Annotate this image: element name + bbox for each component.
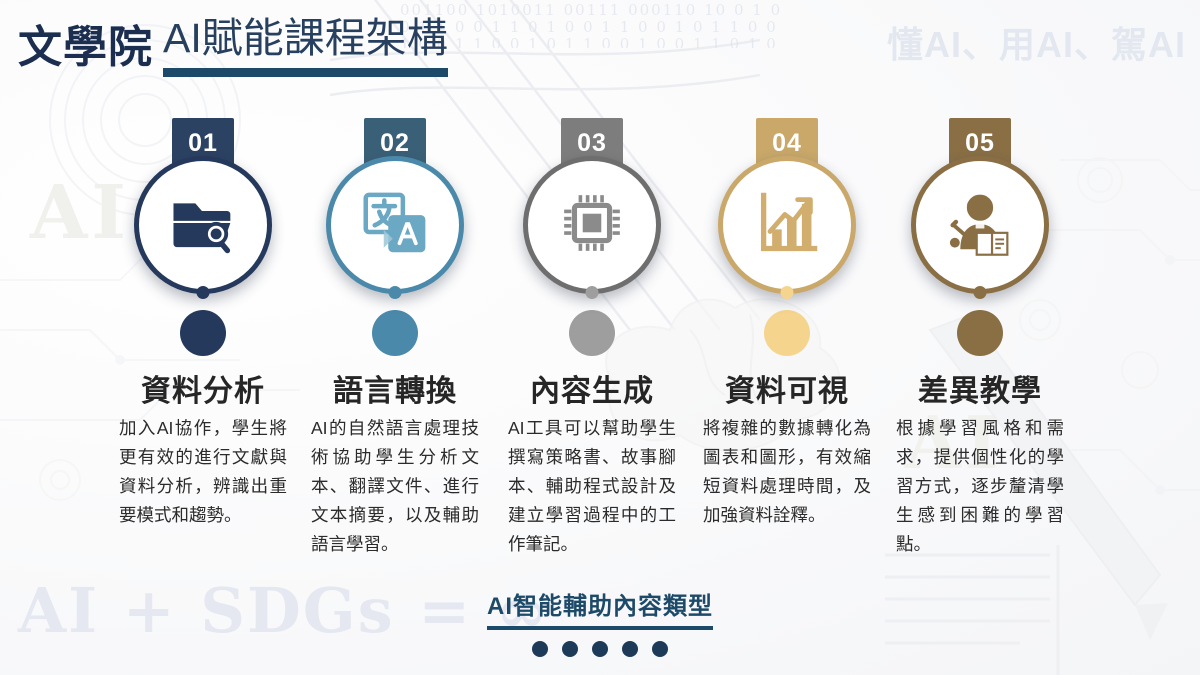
step-icon-circle-01[interactable]	[134, 156, 272, 294]
step-body-01: 加入AI協作，學生將更有效的進行文獻與資料分析，辨識出重要模式和趨勢。	[119, 414, 287, 530]
footer-dot	[622, 641, 638, 657]
footer-dot	[592, 641, 608, 657]
connector-nub-05	[974, 286, 987, 299]
connector-nub-04	[781, 286, 794, 299]
connector-nub-03	[586, 286, 599, 299]
slide-canvas: 001100 1010011 00111 000110 10 0 1 0 0 1…	[0, 0, 1200, 675]
slide-footer: AI智能輔助內容類型	[0, 586, 1200, 657]
step-body-04: 將複雜的數據轉化為圖表和圖形，有效縮短資料處理時間，及加強資料詮釋。	[703, 414, 871, 530]
footer-dot	[532, 641, 548, 657]
teacher-pointer-book-icon	[945, 188, 1015, 263]
step-accent-dot-02	[372, 310, 418, 356]
bar-chart-growth-icon	[753, 189, 821, 262]
steps-timeline: 01 資料分析 加入AI協作，學生將更有效的進行文獻與資料分析，辨識出重要模式和…	[0, 0, 1200, 675]
step-heading-02: 語言轉換	[295, 366, 495, 410]
step-icon-circle-03[interactable]	[523, 156, 661, 294]
step-icon-circle-05[interactable]	[911, 156, 1049, 294]
step-accent-dot-05	[957, 310, 1003, 356]
step-heading-01: 資料分析	[103, 366, 303, 410]
step-heading-05: 差異教學	[880, 366, 1080, 410]
footer-dot	[652, 641, 668, 657]
step-body-02: AI的自然語言處理技術協助學生分析文本、翻譯文件、進行文本摘要，以及輔助語言學習…	[311, 414, 479, 559]
step-heading-04: 資料可視	[687, 366, 887, 410]
connector-nub-01	[197, 286, 210, 299]
folder-search-icon	[168, 188, 238, 263]
translate-icon	[359, 187, 431, 264]
step-body-05: 根據學習風格和需求，提供個性化的學習方式，逐步釐清學生感到困難的學習點。	[896, 414, 1064, 559]
step-accent-dot-04	[764, 310, 810, 356]
step-accent-dot-03	[569, 310, 615, 356]
cpu-chip-icon	[559, 190, 625, 261]
step-icon-circle-04[interactable]	[718, 156, 856, 294]
footer-caption: AI智能輔助內容類型	[487, 586, 713, 630]
step-body-03: AI工具可以幫助學生撰寫策略書、故事腳本、輔助程式設計及建立學習過程中的工作筆記…	[508, 414, 676, 559]
step-accent-dot-01	[180, 310, 226, 356]
connector-nub-02	[389, 286, 402, 299]
footer-dot-row	[0, 641, 1200, 657]
step-icon-circle-02[interactable]	[326, 156, 464, 294]
footer-dot	[562, 641, 578, 657]
step-heading-03: 內容生成	[492, 366, 692, 410]
